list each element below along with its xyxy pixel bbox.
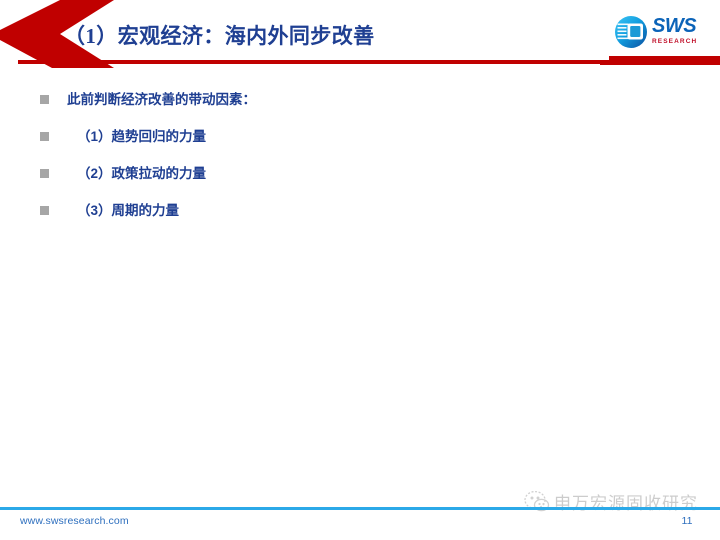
square-bullet-icon	[40, 169, 49, 178]
square-bullet-icon	[40, 95, 49, 104]
page-number: 11	[672, 515, 702, 527]
square-bullet-icon	[40, 132, 49, 141]
footer-divider	[0, 507, 720, 510]
watermark: 申万宏源固收研究	[524, 487, 720, 515]
list-item-label: 此前判断经济改善的带动因素：	[67, 90, 256, 109]
page-title: （1）宏观经济：海内外同步改善	[64, 20, 375, 50]
watermark-text: 申万宏源固收研究	[554, 489, 698, 514]
slide-header: （1）宏观经济：海内外同步改善	[0, 0, 720, 72]
sws-globe-icon	[614, 15, 648, 49]
square-bullet-icon	[40, 206, 49, 215]
footer-url[interactable]: www.swsresearch.com	[20, 515, 129, 527]
list-item-label: （3）周期的力量	[77, 201, 179, 220]
bullet-list: 此前判断经济改善的带动因素： （1）趋势回归的力量 （2）政策拉动的力量 （3）…	[40, 90, 660, 238]
sws-wordmark-text: SWS	[652, 17, 714, 36]
list-item-label: （2）政策拉动的力量	[77, 164, 206, 183]
sws-wordmark: SWS RESEARCH	[652, 17, 714, 46]
header-rule-thin	[18, 60, 618, 64]
list-item: （3）周期的力量	[40, 201, 660, 238]
list-item: （1）趋势回归的力量	[40, 127, 660, 164]
sws-research-text: RESEARCH	[652, 37, 714, 46]
sws-logo: SWS RESEARCH	[614, 14, 714, 50]
header-rule-thick	[612, 56, 720, 65]
list-item: 此前判断经济改善的带动因素：	[40, 90, 660, 127]
slide-root: （1）宏观经济：海内外同步改善	[0, 0, 720, 540]
list-item-label: （1）趋势回归的力量	[77, 127, 206, 146]
list-item: （2）政策拉动的力量	[40, 164, 660, 201]
